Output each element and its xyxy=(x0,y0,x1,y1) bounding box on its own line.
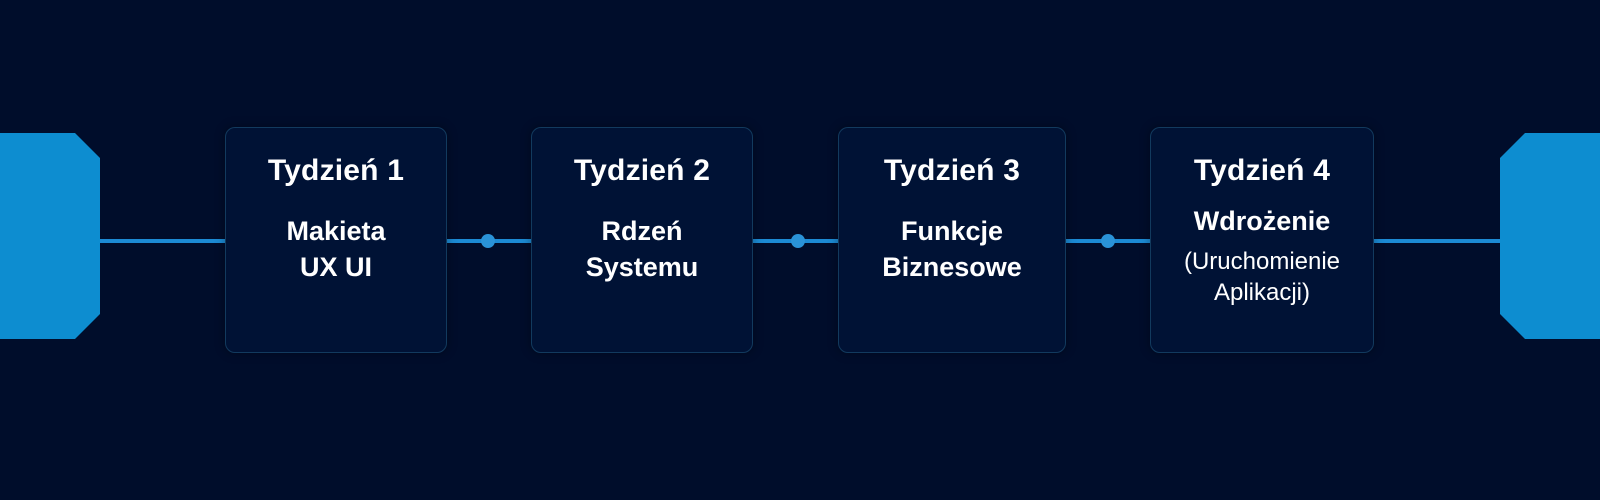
timeline-card-week-1[interactable]: Tydzień 1 Makieta UX UI xyxy=(225,127,447,353)
card-body-line-1: Funkcje xyxy=(901,216,1003,246)
card-title: Tydzień 3 xyxy=(884,154,1020,187)
connector-dot-3 xyxy=(1101,234,1115,248)
card-body-line-1: Rdzeń xyxy=(602,216,683,246)
card-title: Tydzień 2 xyxy=(574,154,710,187)
connector-dot-2 xyxy=(791,234,805,248)
card-body-line-2: UX UI xyxy=(300,252,372,282)
card-note-line-2: Aplikacji) xyxy=(1214,279,1310,306)
roadmap-diagram: Tydzień 1 Makieta UX UI Tydzień 2 Rdzeń … xyxy=(0,0,1600,500)
card-note-line-1: (Uruchomienie xyxy=(1184,248,1340,275)
card-body: Wdrożenie xyxy=(1186,203,1339,239)
card-body: Funkcje Biznesowe xyxy=(874,213,1030,286)
card-body-line-2: Systemu xyxy=(586,252,699,282)
timeline-card-week-2[interactable]: Tydzień 2 Rdzeń Systemu xyxy=(531,127,753,353)
timeline-card-week-3[interactable]: Tydzień 3 Funkcje Biznesowe xyxy=(838,127,1066,353)
card-title: Tydzień 4 xyxy=(1194,154,1330,187)
card-title: Tydzień 1 xyxy=(268,154,404,187)
card-body: Rdzeń Systemu xyxy=(578,213,707,286)
connector-dot-1 xyxy=(481,234,495,248)
card-body-line-2: Biznesowe xyxy=(882,252,1022,282)
card-note: (Uruchomienie Aplikacji) xyxy=(1182,247,1342,308)
card-body-line-1: Makieta xyxy=(286,216,385,246)
timeline-card-week-4[interactable]: Tydzień 4 Wdrożenie (Uruchomienie Aplika… xyxy=(1150,127,1374,353)
card-body: Makieta UX UI xyxy=(278,213,393,286)
